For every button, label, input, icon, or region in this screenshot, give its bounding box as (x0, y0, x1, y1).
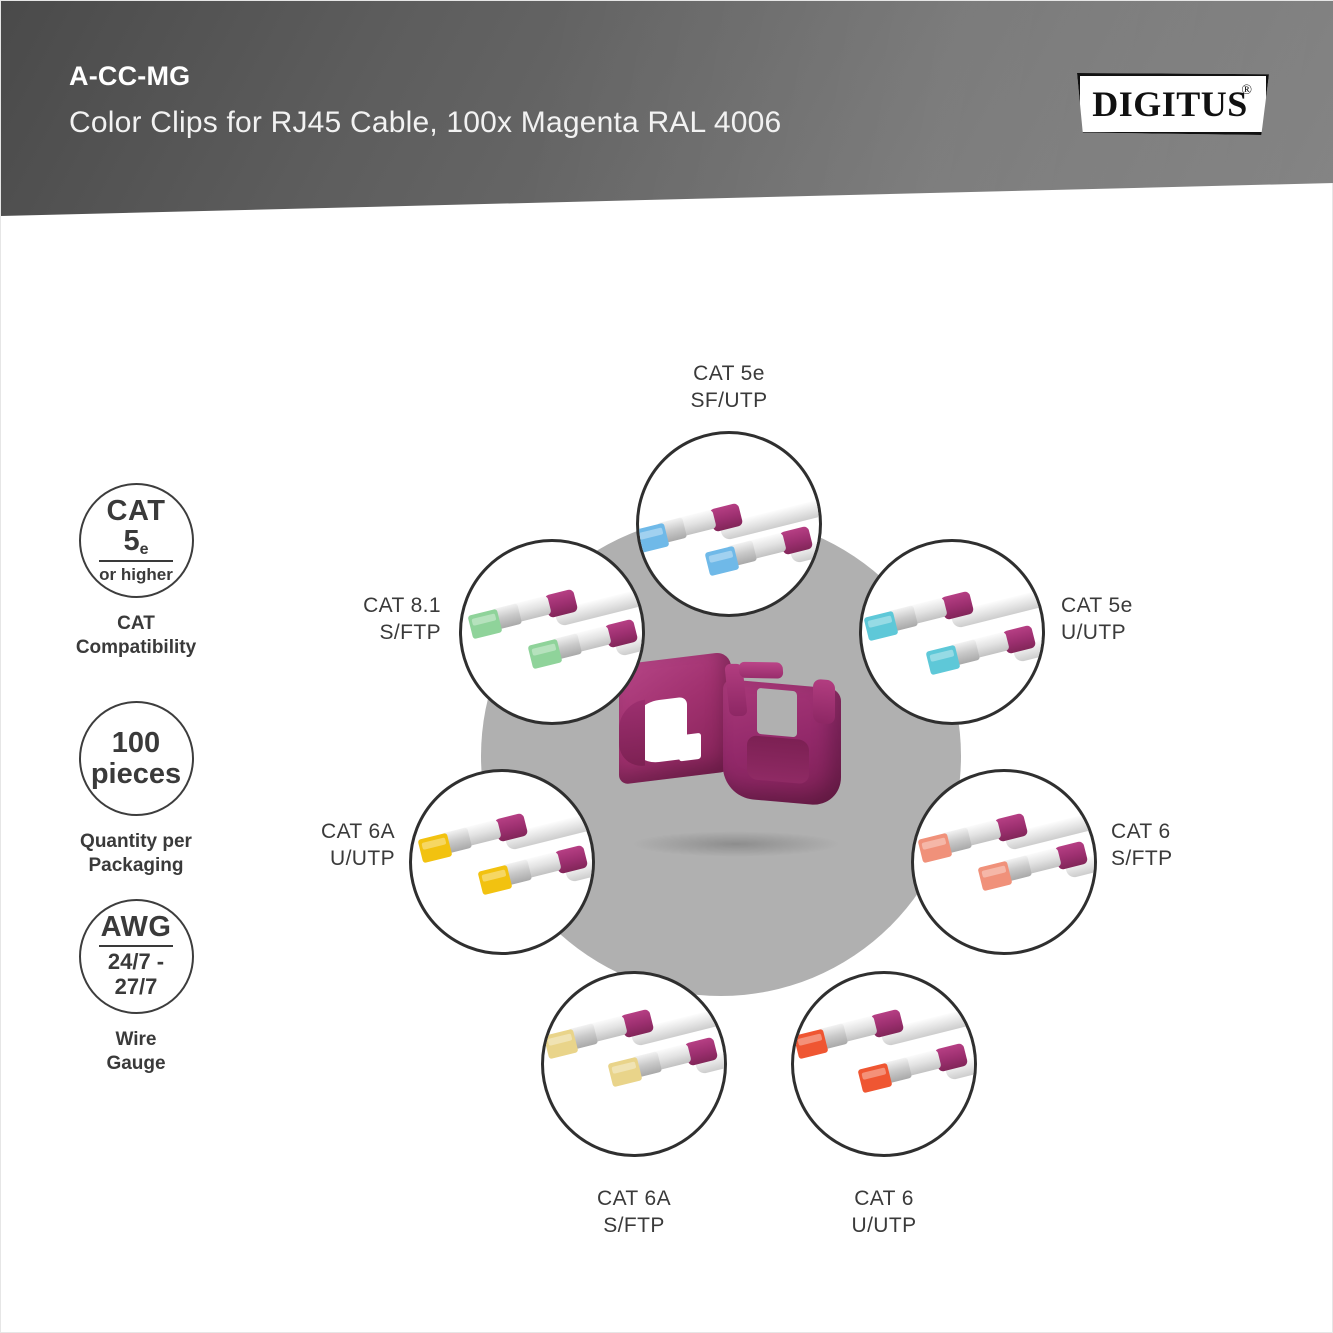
callout-cat6-uutp[interactable] (791, 971, 977, 1157)
plug-tip (636, 523, 669, 554)
callout-label-line2: S/FTP (271, 620, 441, 647)
badge-qty-caption-line2: Packaging (46, 854, 226, 878)
clip-right-inner (747, 735, 809, 784)
product-diagram: CAT 5e SF/UTP (281, 331, 1241, 1231)
badge-cat-value-sub: e (140, 541, 149, 558)
plug-tip (705, 546, 740, 577)
badge-qty-caption: Quantity per Packaging (46, 830, 226, 877)
header-banner: A-CC-MG Color Clips for RJ45 Cable, 100x… (1, 1, 1333, 231)
plug-tip (978, 861, 1013, 892)
badge-awg-top: AWG (101, 913, 172, 942)
callout-label-line2: S/FTP (539, 1213, 729, 1240)
badge-awg-note-line2: 27/7 (115, 975, 158, 1000)
color-clip-right (723, 679, 841, 807)
plug-tip (478, 865, 513, 896)
badge-awg-note-line1: 24/7 - (108, 950, 164, 975)
badge-cat-caption: CAT Compatibility (46, 612, 226, 659)
plug-tip (528, 639, 563, 670)
badge-qty-unit: pieces (91, 759, 181, 789)
badge-awg-caption-line2: Gauge (46, 1052, 226, 1076)
callout-label-cat6-uutp: CAT 6 U/UTP (789, 1186, 979, 1240)
callout-label-line1: CAT 6A (239, 819, 395, 846)
badge-cat-caption-line2: Compatibility (46, 636, 226, 660)
badge-circle-awg: AWG 24/7 - 27/7 (79, 899, 194, 1014)
callout-label-line2: U/UTP (789, 1213, 979, 1240)
product-sku: A-CC-MG (69, 61, 190, 92)
callout-label-line1: CAT 6 (1111, 819, 1261, 846)
badge-cat-compatibility: CAT 5e or higher CAT Compatibility (46, 483, 226, 659)
callout-label-line1: CAT 5e (1061, 593, 1211, 620)
plug-tip (544, 1029, 579, 1060)
callout-label-line1: CAT 6 (789, 1186, 979, 1213)
callout-cat6a-uutp[interactable] (409, 769, 595, 955)
plug-tip (864, 611, 899, 642)
badge-qty-caption-line1: Quantity per (46, 830, 226, 854)
callout-label-cat5e-sfutp: CAT 5e SF/UTP (634, 361, 824, 415)
badge-cat-caption-line1: CAT (46, 612, 226, 636)
badge-quantity: 100 pieces Quantity per Packaging (46, 701, 226, 877)
plug-tip (926, 645, 961, 676)
logo-wordmark: DIGITUS (1077, 73, 1269, 135)
color-clip-pair (611, 646, 851, 846)
callout-cat5e-sfutp[interactable] (636, 431, 822, 617)
callout-label-cat6a-sftp: CAT 6A S/FTP (539, 1186, 729, 1240)
plug-tip (418, 833, 453, 864)
clip-right-gap (757, 688, 797, 737)
product-subtitle: Color Clips for RJ45 Cable, 100x Magenta… (69, 106, 781, 140)
callout-label-cat81-sftp: CAT 8.1 S/FTP (271, 593, 441, 647)
registered-trademark-icon: ® (1241, 83, 1252, 99)
callout-cat6a-sftp[interactable] (541, 971, 727, 1157)
clip-right-prong (813, 679, 835, 725)
badge-awg-caption: Wire Gauge (46, 1028, 226, 1075)
callout-label-cat5e-uutp: CAT 5e U/UTP (1061, 593, 1211, 647)
callout-label-line2: S/FTP (1111, 846, 1261, 873)
plug-tip (608, 1057, 643, 1088)
clip-left-notch (679, 733, 701, 762)
badge-qty-count: 100 (112, 728, 160, 758)
badge-circle-quantity: 100 pieces (79, 701, 194, 816)
callout-label-line1: CAT 8.1 (271, 593, 441, 620)
badge-divider (99, 560, 173, 562)
callout-label-line1: CAT 6A (539, 1186, 729, 1213)
callout-label-cat6a-uutp: CAT 6A U/UTP (239, 819, 395, 873)
callout-label-cat6-sftp: CAT 6 S/FTP (1111, 819, 1261, 873)
badge-wire-gauge: AWG 24/7 - 27/7 Wire Gauge (46, 899, 226, 1075)
badge-cat-note: or higher (99, 565, 173, 584)
callout-cat6-sftp[interactable] (911, 769, 1097, 955)
callout-label-line1: CAT 5e (634, 361, 824, 388)
callout-label-line2: U/UTP (1061, 620, 1211, 647)
callout-label-line2: U/UTP (239, 846, 395, 873)
plug-tip (794, 1029, 829, 1060)
callout-cat5e-uutp[interactable] (859, 539, 1045, 725)
callout-label-line2: SF/UTP (634, 388, 824, 415)
plug-tip (468, 609, 503, 640)
badge-awg-caption-line1: Wire (46, 1028, 226, 1052)
callout-cat81-sftp[interactable] (459, 539, 645, 725)
badge-cat-value: 5e (123, 526, 148, 556)
badge-cat-top: CAT (107, 497, 166, 526)
clip-right-hook-tab (738, 662, 783, 679)
product-infographic-page: A-CC-MG Color Clips for RJ45 Cable, 100x… (0, 0, 1333, 1333)
badge-divider (99, 945, 173, 947)
digitus-logo: DIGITUS ® (1077, 73, 1269, 135)
plug-tip (858, 1063, 893, 1094)
plug-tip (918, 833, 953, 864)
badge-circle-cat: CAT 5e or higher (79, 483, 194, 598)
